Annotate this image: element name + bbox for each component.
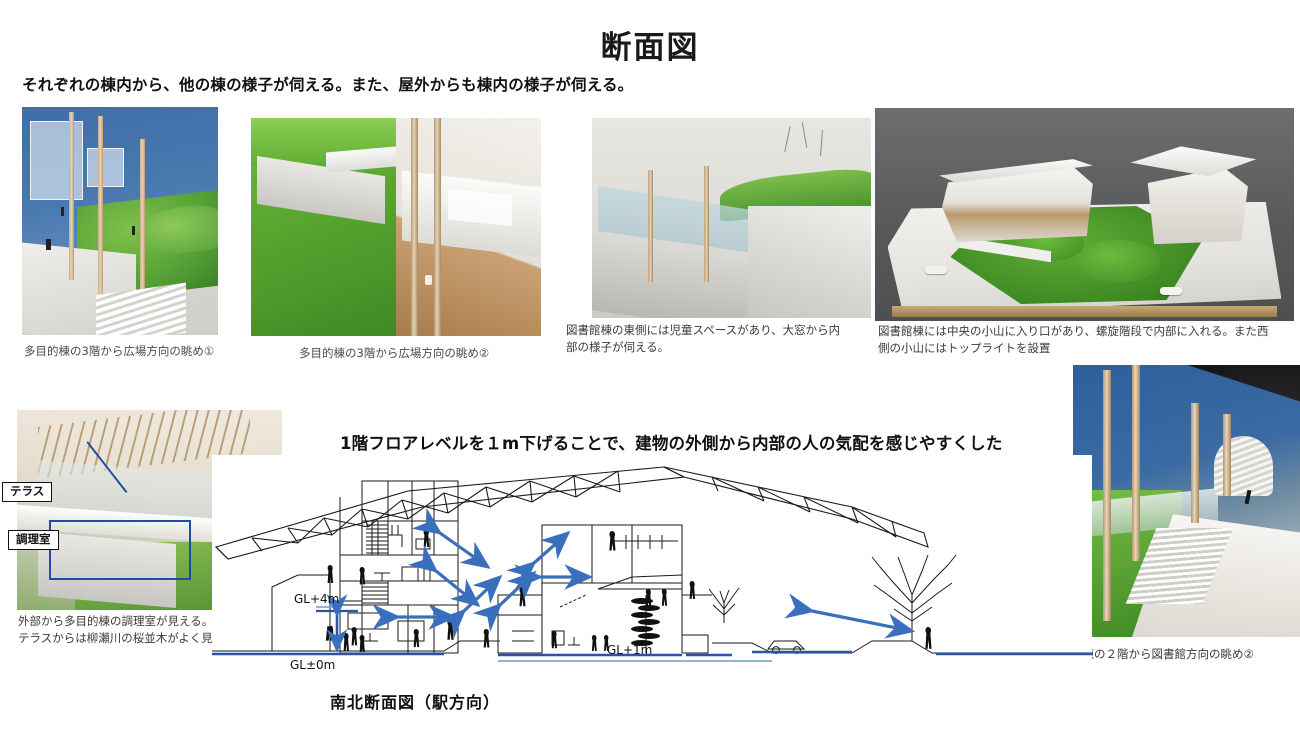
- arrow-outdoor-long: [812, 611, 912, 631]
- photo-3-right-wall: [748, 206, 871, 318]
- human-figures: [326, 529, 932, 652]
- library-building: [498, 525, 682, 653]
- photo-6-wood-column-1: [1103, 370, 1111, 620]
- photo-1-wall-panel: [30, 121, 83, 201]
- photo-2-wood-column-1: [411, 118, 418, 336]
- sight-line-arrows: [398, 533, 590, 617]
- subtitle-text: それぞれの棟内から、他の棟の様子が伺える。また、屋外からも棟内の様子が伺える。: [22, 73, 633, 95]
- kitchen-label-tag: 調理室: [8, 530, 59, 550]
- photo-3-wood-column-2: [704, 166, 709, 282]
- arrow-3f-to-court: [440, 533, 488, 567]
- photo-4-car-2: [1160, 287, 1182, 295]
- figure-lib-c: [646, 589, 652, 607]
- figure-court-a: [447, 619, 453, 640]
- figure-lib-d: [662, 589, 667, 606]
- figure-plaza-a: [344, 633, 349, 651]
- photo-4-car-1: [925, 266, 947, 274]
- figure-lib-f: [592, 635, 597, 651]
- figure-lib-a: [520, 587, 526, 606]
- terrace-label-tag: テラス: [2, 482, 52, 502]
- figure-lib-e: [552, 631, 557, 648]
- roof-truss: [216, 467, 928, 559]
- slide-canvas: 断面図 それぞれの棟内から、他の棟の様子が伺える。また、屋外からも棟内の様子が伺…: [0, 0, 1300, 731]
- arrow-court-to-library: [500, 573, 534, 605]
- right-outdoor-area: [682, 555, 1092, 653]
- bottom-white-bar: [0, 690, 1300, 731]
- photo-1-figure-1: [61, 207, 64, 216]
- photo-2-caption: 多目的棟の3階から広場方向の眺め②: [299, 345, 559, 362]
- gl-plus-4m-label: GL+4m: [294, 592, 339, 606]
- figure-court-b: [484, 629, 490, 648]
- arrow-library-upper: [534, 533, 568, 563]
- figure-1f-a: [352, 627, 358, 645]
- photo-4-mound-2: [1076, 240, 1160, 283]
- photo-3-wood-column-1: [648, 170, 653, 282]
- photo-1-wood-column-3: [140, 139, 145, 289]
- photo-1-wood-column-1: [69, 112, 74, 281]
- photo-1-wall-panel-2: [87, 148, 124, 186]
- photo-3-caption: 図書館棟の東側には児童スペースがあり、大窓から内 部の様子が伺える。: [566, 322, 866, 355]
- photo-5-kitchen-highlight-box: [49, 520, 191, 580]
- figure-3f: [424, 529, 430, 547]
- photo-2-furniture: [425, 275, 432, 285]
- photo-4-caption: 図書館棟には中央の小山に入り口があり、螺旋階段で内部に入れる。また西 側の小山に…: [878, 323, 1296, 356]
- outdoor-sight-arrow: [812, 611, 912, 631]
- photo-6-wood-column-4: [1223, 414, 1231, 496]
- gl-plus-1m-label: GL+1m: [607, 643, 652, 657]
- section-heading: 1階フロアレベルを１m下げることで、建物の外側から内部の人の気配を感じやすくした: [340, 430, 1003, 454]
- figure-under-tree: [925, 627, 931, 649]
- photo-1-caption: 多目的棟の3階から広場方向の眺め①: [24, 343, 274, 360]
- photo-2-wood-column-2: [434, 118, 441, 336]
- gl-zero-label: GL±0m: [290, 658, 335, 672]
- photo-1-figure-3: [46, 239, 51, 250]
- photo-6-library-direction-view: [1073, 365, 1300, 637]
- photo-6-wood-column-3: [1191, 403, 1199, 523]
- page-title: 断面図: [0, 22, 1300, 67]
- photo-1-wood-column-2: [98, 116, 103, 294]
- photo-1-model-plaza-view-1: [22, 107, 218, 335]
- figure-terrace-roof: [690, 581, 696, 599]
- section-linework: [212, 467, 1092, 661]
- photo-4-site-model-overview: [875, 108, 1294, 321]
- section-drawing-caption: 南北断面図（駅方向）: [330, 689, 500, 713]
- arrow-court-up-right: [464, 577, 500, 611]
- photo-4-base-wood-edge: [892, 306, 1277, 317]
- spiral-stair-treads: [631, 598, 660, 646]
- figure-lib-b: [609, 531, 615, 551]
- photo-3-library-children-space: [592, 118, 871, 318]
- arrow-2f-to-court: [436, 571, 478, 605]
- figure-1f-b: [414, 629, 420, 647]
- photo-1-figure-2: [132, 226, 135, 235]
- photo-2-model-plaza-view-2: [251, 118, 541, 336]
- photo-6-wood-column-2: [1132, 365, 1140, 561]
- multipurpose-building: [340, 481, 458, 653]
- section-drawing: GL+4m GL+1m GL±0m: [212, 455, 1092, 690]
